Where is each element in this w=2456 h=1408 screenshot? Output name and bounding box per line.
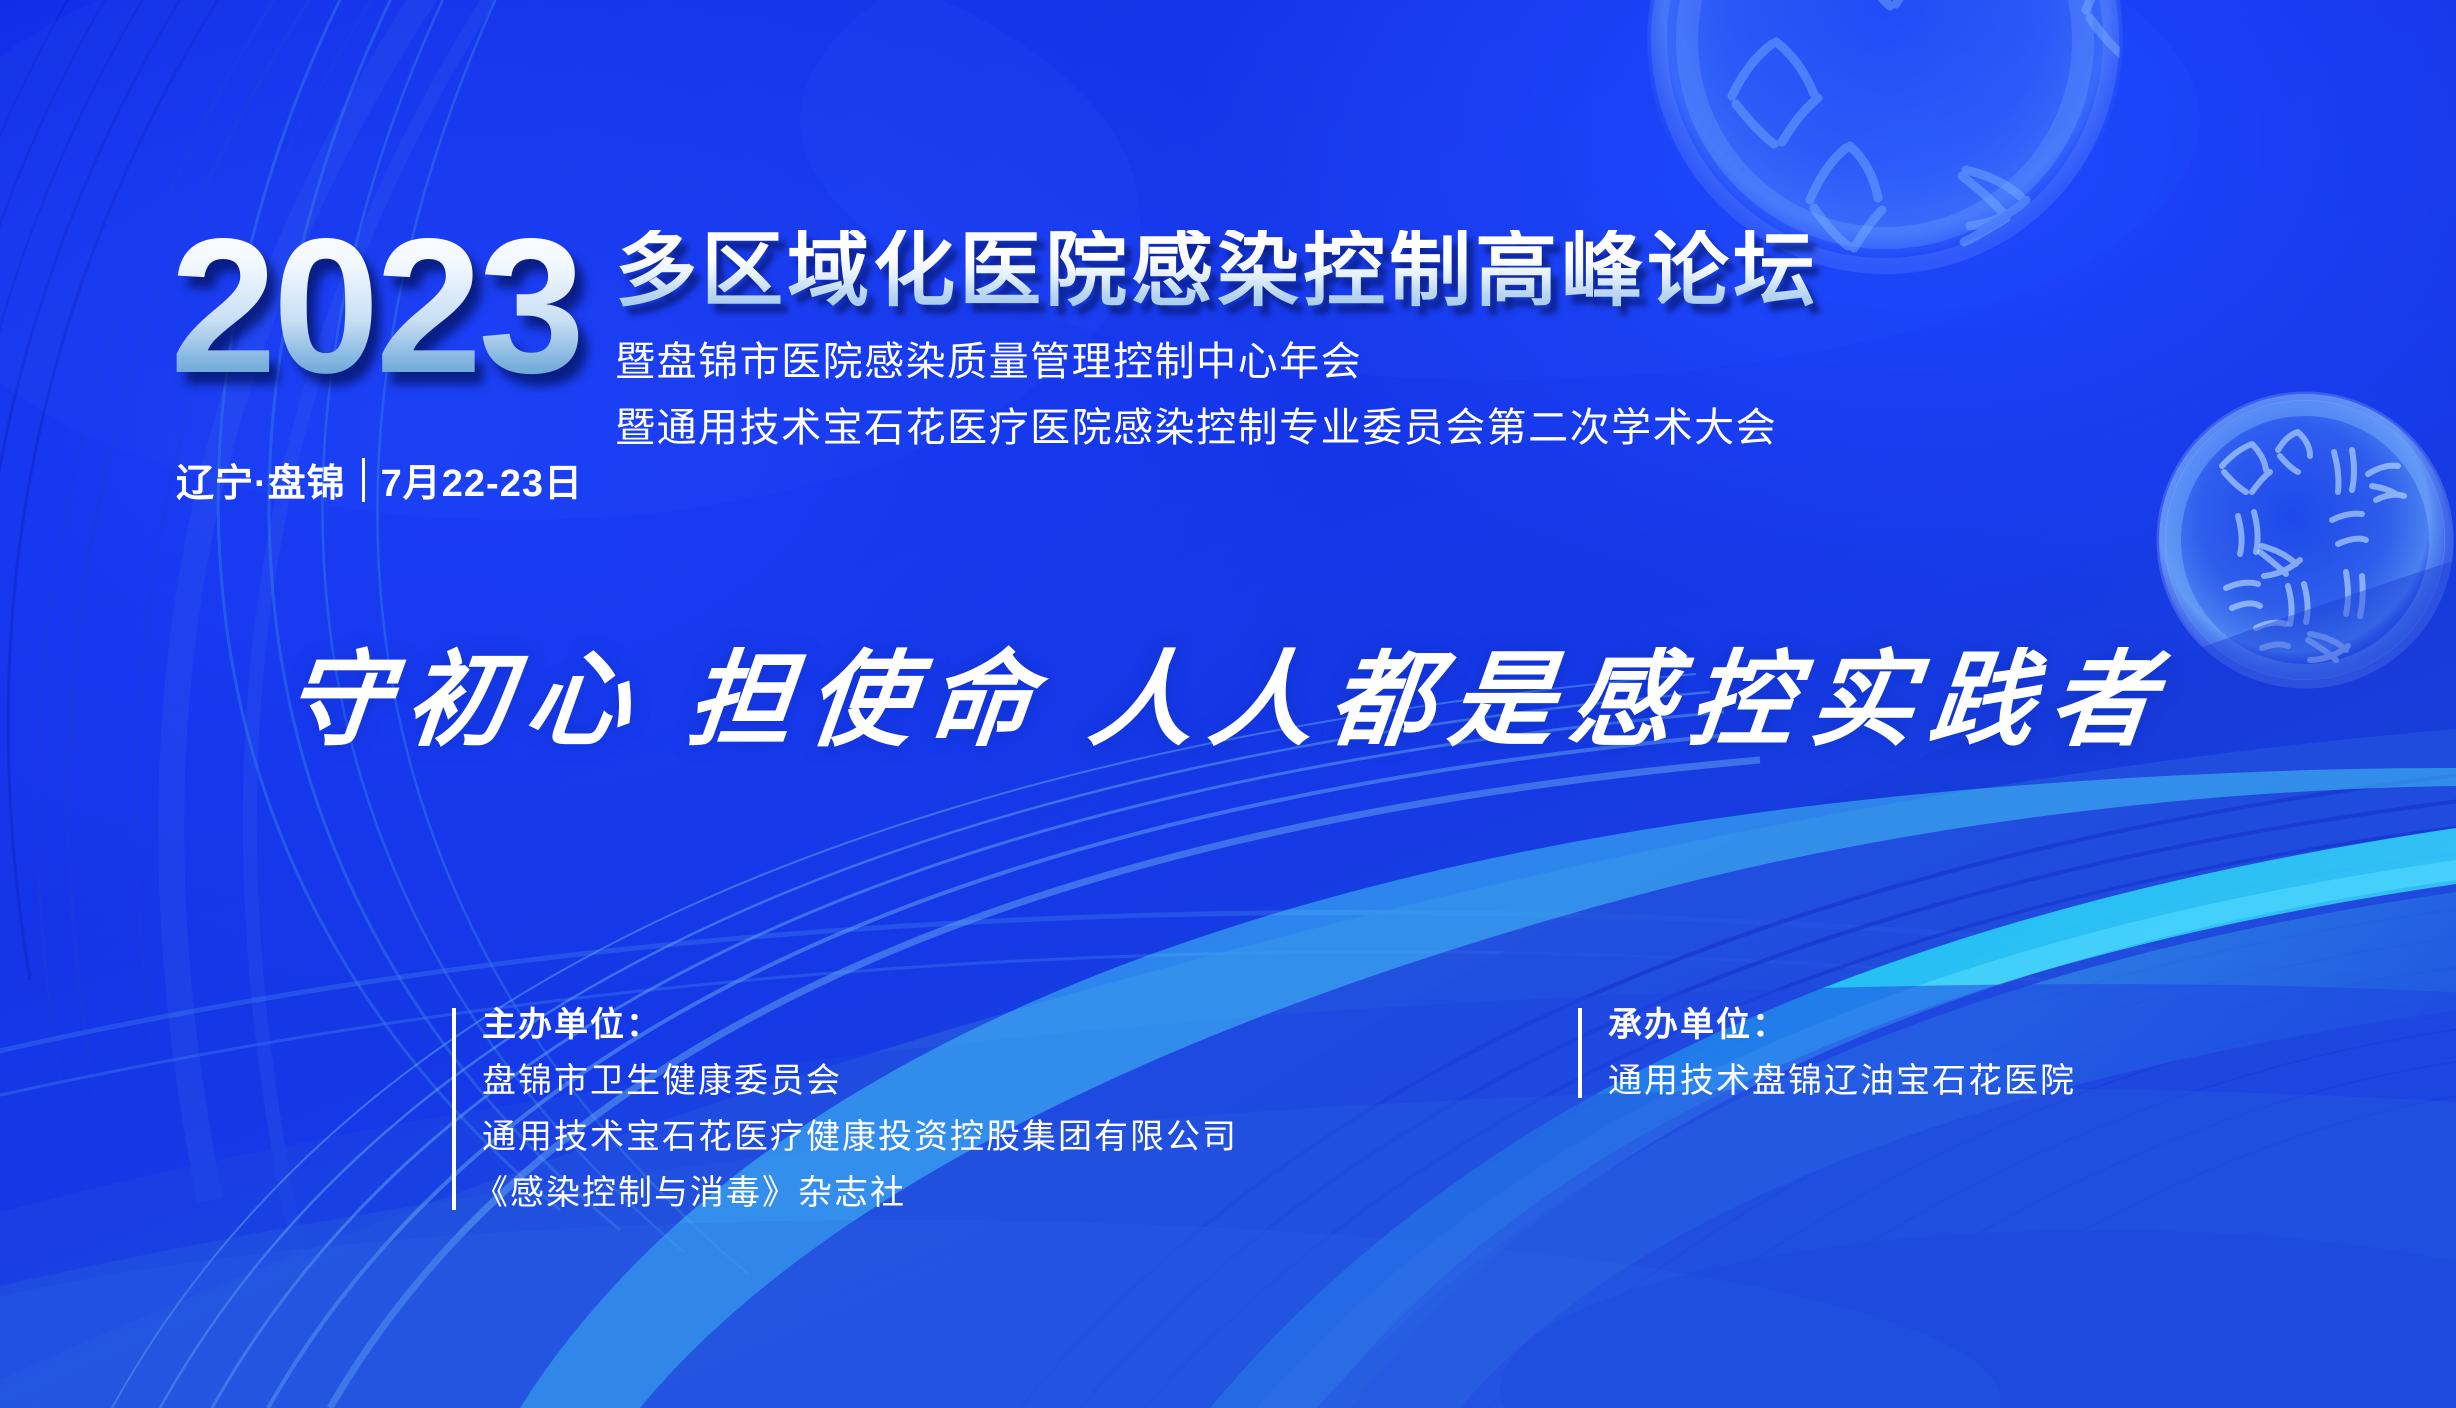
poster-content: 2023 多区域化医院感染控制高峰论坛 暨盘锦市医院感染质量管理控制中心年会 暨… xyxy=(0,0,2456,1408)
host-line-2: 通用技术宝石花医疗健康投资控股集团有限公司 xyxy=(482,1120,1238,1154)
slogan-text: 守初心 担使命 人人都是感控实践者 xyxy=(0,640,2456,765)
subtitle-line-1: 暨盘锦市医院感染质量管理控制中心年会 xyxy=(615,342,1819,382)
headline-group: 2023 多区域化医院感染控制高峰论坛 暨盘锦市医院感染质量管理控制中心年会 暨… xyxy=(170,218,1819,448)
title-block: 多区域化医院感染控制高峰论坛 暨盘锦市医院感染质量管理控制中心年会 暨通用技术宝… xyxy=(615,218,1819,448)
undertaker-heading: 承办单位： xyxy=(1608,1008,2076,1042)
year-2023: 2023 xyxy=(170,218,581,395)
place-label: 辽宁·盘锦 xyxy=(176,452,346,507)
host-organizer-block: 主办单位： 盘锦市卫生健康委员会 通用技术宝石花医疗健康投资控股集团有限公司 《… xyxy=(452,1008,1238,1210)
undertaker-line-1: 通用技术盘锦辽油宝石花医院 xyxy=(1608,1064,2076,1098)
host-line-3: 《感染控制与消毒》杂志社 xyxy=(482,1176,1238,1210)
undertaker-organizer-block: 承办单位： 通用技术盘锦辽油宝石花医院 xyxy=(1578,1008,2076,1098)
date-label: 7月22-23日 xyxy=(381,452,583,507)
host-line-1: 盘锦市卫生健康委员会 xyxy=(482,1064,1238,1098)
subtitle-line-2: 暨通用技术宝石花医疗医院感染控制专业委员会第二次学术大会 xyxy=(615,408,1819,448)
page-title: 多区域化医院感染控制高峰论坛 xyxy=(615,230,1819,312)
place-date-group: 辽宁·盘锦 7月22-23日 xyxy=(176,452,583,507)
host-heading: 主办单位： xyxy=(482,1008,1238,1042)
vertical-divider xyxy=(362,458,365,502)
conference-banner-poster: 2023 多区域化医院感染控制高峰论坛 暨盘锦市医院感染质量管理控制中心年会 暨… xyxy=(0,0,2456,1408)
